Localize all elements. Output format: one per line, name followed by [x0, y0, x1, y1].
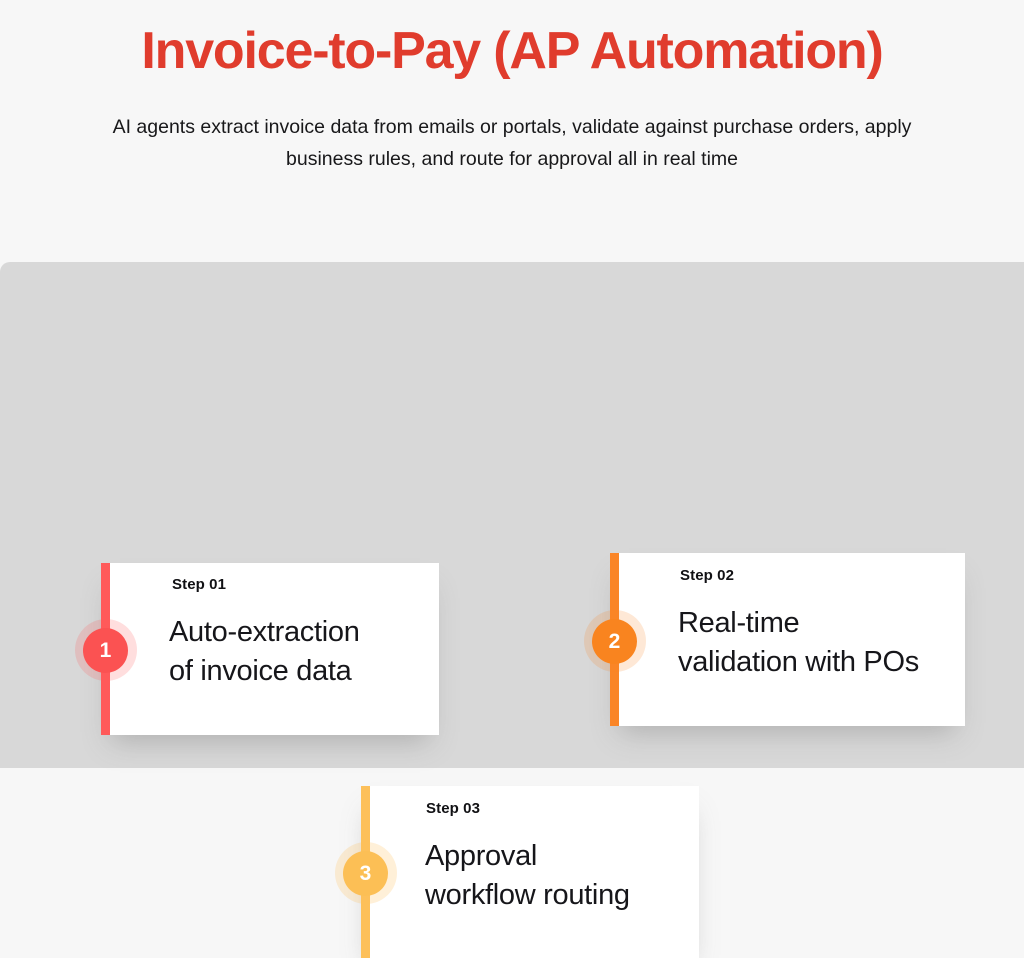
- page-subtitle: AI agents extract invoice data from emai…: [102, 112, 922, 175]
- steps-panel: 1 Step 01 Auto-extraction of invoice dat…: [0, 262, 1024, 768]
- page-title: Invoice-to-Pay (AP Automation): [0, 22, 1024, 82]
- header-section: Invoice-to-Pay (AP Automation) AI agents…: [0, 0, 1024, 262]
- step-card-3-title: Approval workflow routing: [425, 837, 630, 914]
- step-card-2-title: Real-time validation with POs: [678, 604, 919, 681]
- step-card-3-label: Step 03: [426, 800, 480, 817]
- step-card-3[interactable]: 3 Step 03 Approval workflow routing: [361, 786, 699, 958]
- step-card-2-number-badge: 2: [592, 619, 637, 664]
- step-card-1-title: Auto-extraction of invoice data: [169, 613, 360, 690]
- step-card-1[interactable]: 1 Step 01 Auto-extraction of invoice dat…: [101, 563, 439, 735]
- step-card-2-label: Step 02: [680, 567, 734, 584]
- step-card-3-number-badge: 3: [343, 851, 388, 896]
- step-card-1-label: Step 01: [172, 576, 226, 593]
- step-card-2[interactable]: 2 Step 02 Real-time validation with POs: [610, 553, 965, 726]
- step-card-1-number-badge: 1: [83, 628, 128, 673]
